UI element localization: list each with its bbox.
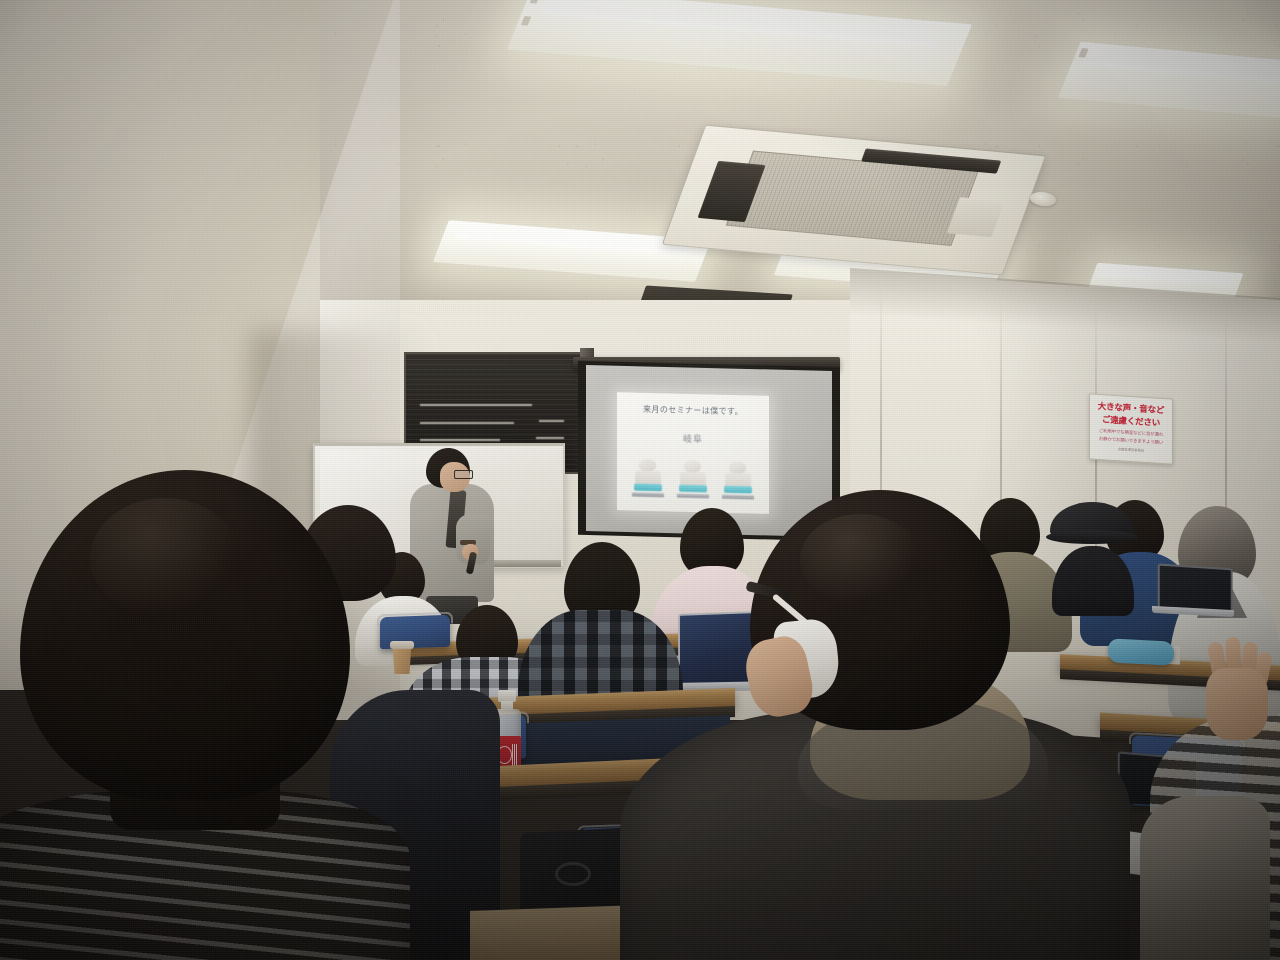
blind-slat <box>420 439 499 441</box>
hair-highlight <box>800 514 920 604</box>
blind-slat <box>539 420 564 422</box>
slide-thumbnail <box>630 458 666 501</box>
seminar-room-photo: 大きな声・音など ご遠慮ください ご利用中でも隣室などに音が漏れ お静かでお願い… <box>0 0 1280 960</box>
hair-highlight <box>90 498 240 618</box>
slide-subtitle: 岐阜 <box>617 430 769 447</box>
blind-slat <box>420 422 514 424</box>
raised-hand <box>1196 640 1280 752</box>
bag-handle <box>555 862 591 886</box>
person-foreground-right <box>690 490 1130 960</box>
glasses-icon <box>454 470 473 479</box>
blind-slat <box>536 437 565 439</box>
blind-slat <box>420 404 532 406</box>
sleeve <box>1140 796 1270 960</box>
noise-warning-sign: 大きな声・音など ご遠慮ください ご利用中でも隣室などに音が漏れ お静かでお願い… <box>1089 393 1173 464</box>
slide-title: 来月のセミナーは僕です。 <box>617 403 769 418</box>
person-foreground-left <box>0 470 430 960</box>
person-striped-right <box>1150 716 1280 960</box>
palm <box>1206 668 1268 740</box>
